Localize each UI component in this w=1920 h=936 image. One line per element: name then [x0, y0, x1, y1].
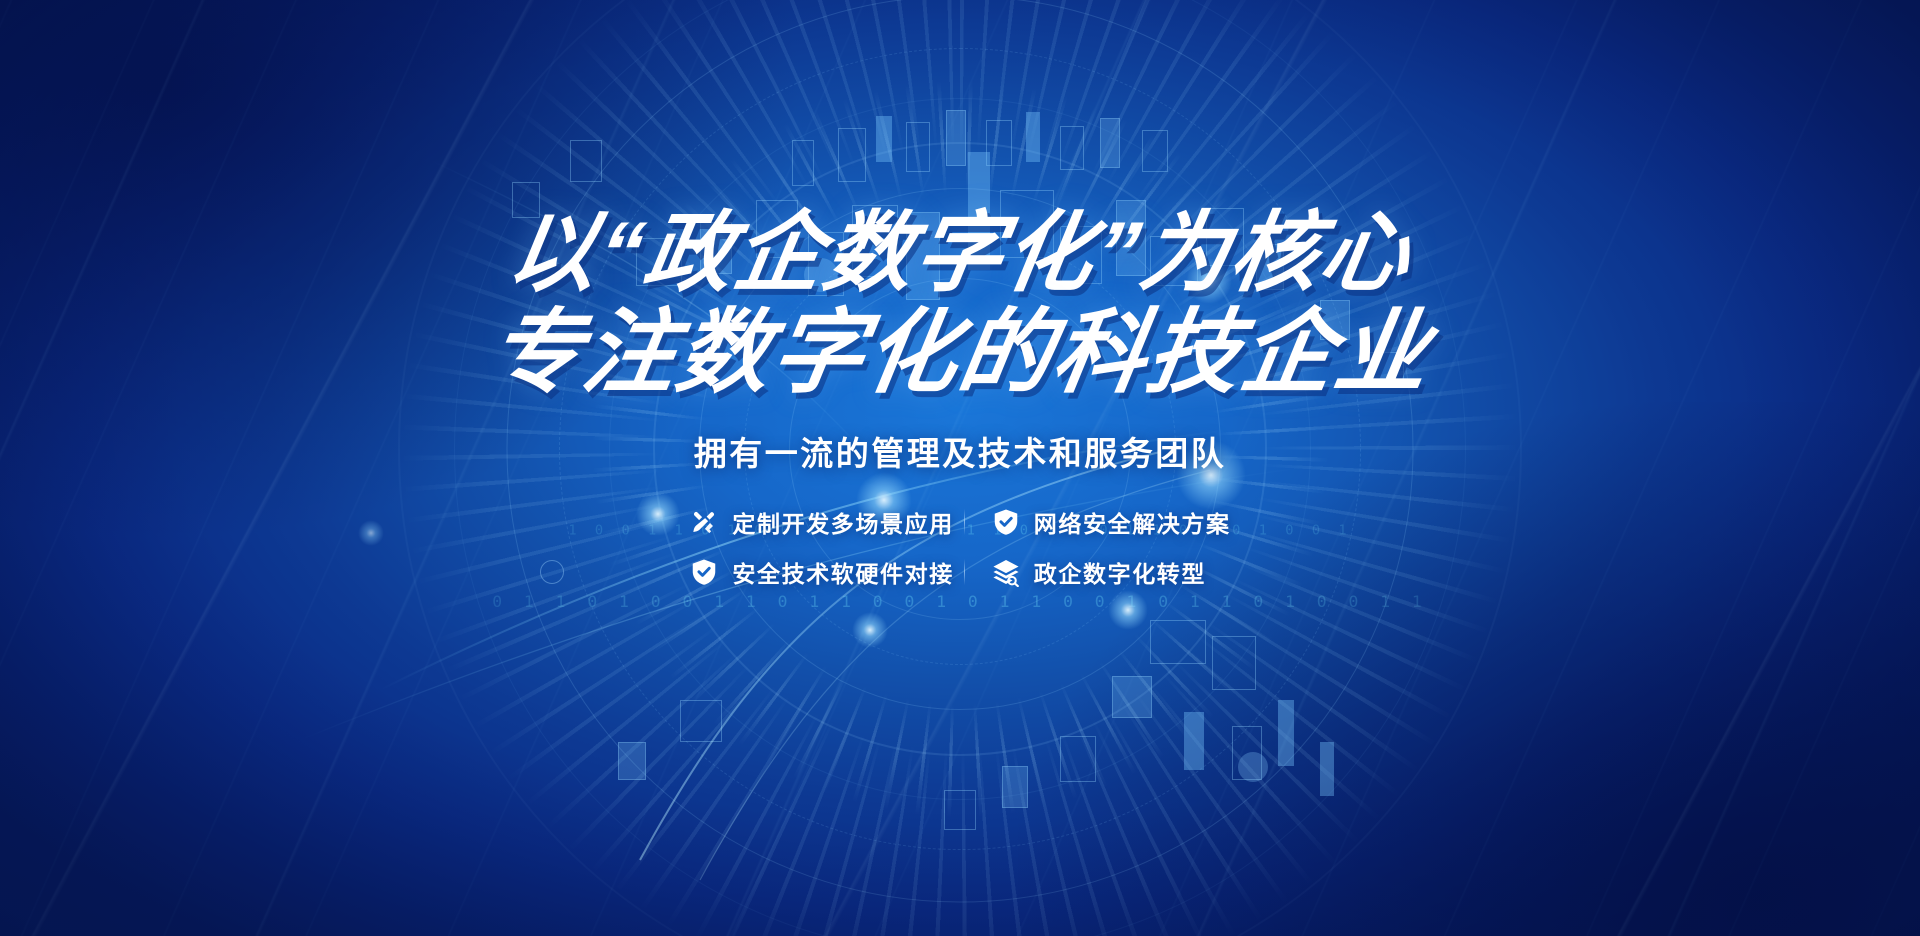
- feature-label: 网络安全解决方案: [1034, 505, 1231, 539]
- feature-label: 安全技术软硬件对接: [732, 555, 953, 589]
- feature-divider: [964, 509, 965, 535]
- hero-banner: 1 0 0 1 1 0 1 0 0 1 1 0 0 1 0 1 1 0 1 0 …: [0, 0, 1920, 936]
- feature-item-security-integration[interactable]: 安全技术软硬件对接: [689, 555, 953, 589]
- headline-line-2: 专注数字化的科技企业: [482, 305, 1437, 401]
- feature-item-network-security[interactable]: 网络安全解决方案: [991, 505, 1231, 539]
- feature-label: 政企数字化转型: [1034, 555, 1206, 589]
- headline-line-1: 以“政企数字化”为核心: [482, 205, 1437, 301]
- code-development-icon: [689, 507, 719, 537]
- feature-divider: [964, 559, 965, 585]
- subtitle: 拥有一流的管理及技术和服务团队: [694, 427, 1227, 475]
- feature-row: 安全技术软硬件对接 政企数字化转型: [689, 555, 1230, 589]
- shield-check-icon: [689, 557, 719, 587]
- feature-label: 定制开发多场景应用: [732, 505, 953, 539]
- headline: 以“政企数字化”为核心 专注数字化的科技企业: [490, 205, 1430, 401]
- layers-search-icon: [991, 557, 1021, 587]
- shield-check-icon: [991, 507, 1021, 537]
- feature-item-custom-development[interactable]: 定制开发多场景应用: [689, 505, 953, 539]
- feature-list: 定制开发多场景应用 网络安全解决方案: [689, 505, 1230, 589]
- feature-item-digital-transformation[interactable]: 政企数字化转型: [991, 555, 1221, 589]
- banner-content: 以“政企数字化”为核心 专注数字化的科技企业 拥有一流的管理及技术和服务团队 定…: [0, 0, 1920, 936]
- feature-row: 定制开发多场景应用 网络安全解决方案: [689, 505, 1230, 539]
